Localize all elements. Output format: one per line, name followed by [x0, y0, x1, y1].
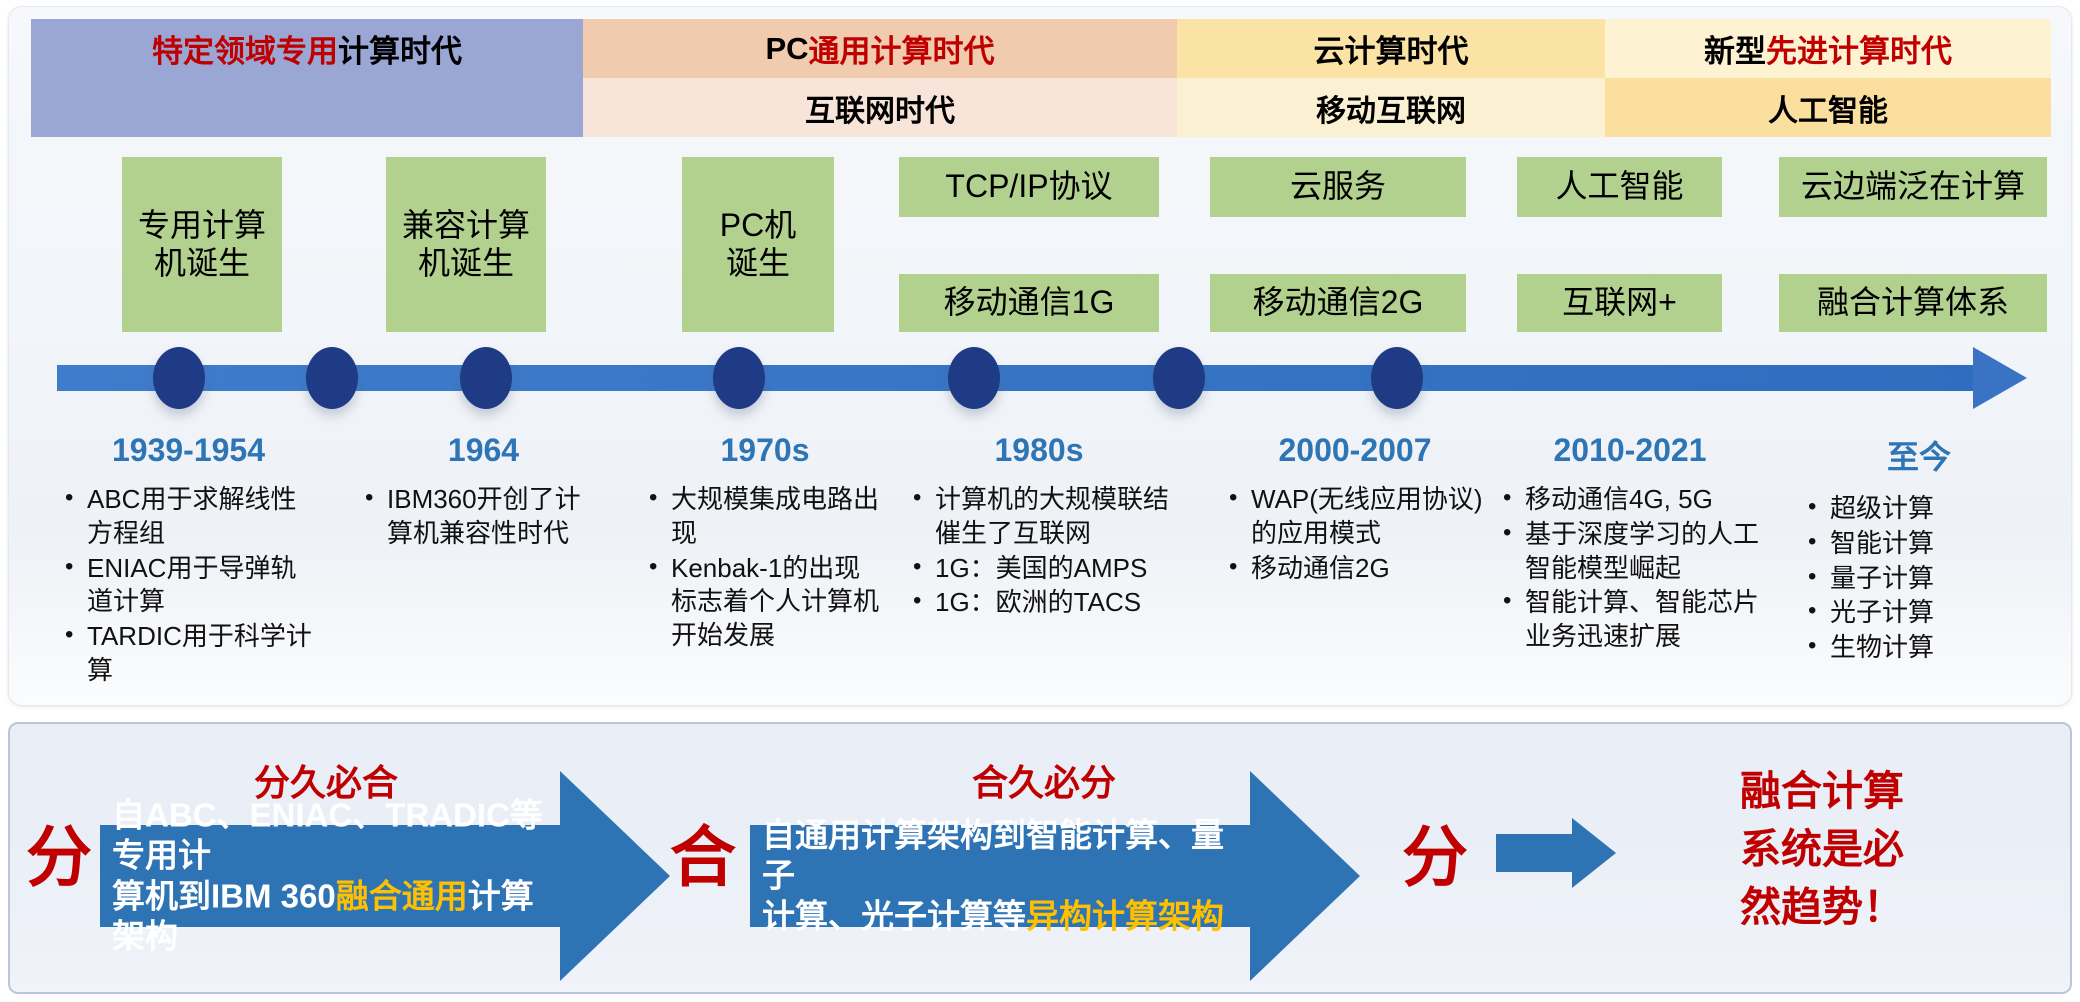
timeline-arrow-head-icon [1973, 347, 2027, 409]
era-band-2: 云计算时代移动互联网 [1177, 19, 1605, 137]
label-fen-right: 分 [1402, 824, 1468, 890]
era-column-4: 2000-2007WAP(无线应用协议)的应用模式移动通信2G [1225, 432, 1485, 586]
list-item: WAP(无线应用协议)的应用模式 [1225, 483, 1485, 551]
list-item: ENIAC用于导弹轨道计算 [61, 552, 316, 620]
small-arrow-head-icon [1572, 818, 1616, 888]
block-arrow-2-head-icon [1250, 771, 1360, 981]
label-he-middle: 合 [670, 824, 736, 890]
tech-tag-8: 互联网+ [1517, 274, 1722, 332]
era-column-0: 1939-1954ABC用于求解线性方程组ENIAC用于导弹轨道计算TARDIC… [61, 432, 316, 689]
label-fen-left: 分 [26, 824, 92, 890]
block-arrow-1-text: 自ABC、ENIAC、TRADIC等专用计 算机到IBM 360融合通用计算架构 [100, 788, 570, 965]
tech-tag-1: 兼容计算 机诞生 [386, 157, 546, 332]
era-band-2-subtitle: 移动互联网 [1177, 78, 1605, 137]
era-column-3-year: 1980s [909, 432, 1169, 469]
list-item: Kenbak-1的出现标志着个人计算机开始发展 [645, 552, 885, 653]
arrow-text-highlight: 异构计算架构 [1026, 897, 1224, 934]
era-column-1: 1964IBM360开创了计算机兼容性时代 [361, 432, 606, 552]
list-item: 基于深度学习的人工智能模型崛起 [1499, 518, 1761, 586]
tech-tag-7: 人工智能 [1517, 157, 1722, 217]
tech-tag-5: 云服务 [1210, 157, 1466, 217]
era-band-3: 新型先进计算时代人工智能 [1605, 19, 2051, 137]
tech-tag-10: 融合计算体系 [1779, 274, 2047, 332]
list-item: 移动通信4G, 5G [1499, 483, 1761, 517]
era-band-3-title: 新型先进计算时代 [1605, 19, 2051, 78]
tech-tag-0: 专用计算 机诞生 [122, 157, 282, 332]
era-column-0-list: ABC用于求解线性方程组ENIAC用于导弹轨道计算TARDIC用于科学计算 [61, 483, 316, 688]
conclusion-panel: 分 分久必合 自ABC、ENIAC、TRADIC等专用计 算机到IBM 360融… [8, 722, 2072, 994]
era-column-2: 1970s大规模集成电路出现Kenbak-1的出现标志着个人计算机开始发展 [645, 432, 885, 654]
era-column-2-list: 大规模集成电路出现Kenbak-1的出现标志着个人计算机开始发展 [645, 483, 885, 653]
block-arrow-1-head-icon [560, 771, 670, 981]
era-column-5: 2010-2021移动通信4G, 5G基于深度学习的人工智能模型崛起智能计算、智… [1499, 432, 1761, 655]
list-item: 1G：美国的AMPS [909, 552, 1169, 586]
list-item: 超级计算 [1804, 492, 2034, 526]
era-column-2-year: 1970s [645, 432, 885, 469]
list-item: ABC用于求解线性方程组 [61, 483, 316, 551]
list-item: 大规模集成电路出现 [645, 483, 885, 551]
timeline-dot-6 [1371, 347, 1423, 409]
era-column-3: 1980s计算机的大规模联结催生了互联网1G：美国的AMPS1G：欧洲的TACS [909, 432, 1169, 621]
era-header-bands: 特定领域专用计算时代PC通用计算时代互联网时代云计算时代移动互联网新型先进计算时… [31, 19, 2051, 137]
era-column-6: 至今超级计算智能计算量子计算光子计算生物计算 [1804, 432, 2034, 666]
slide-root: 特定领域专用计算时代PC通用计算时代互联网时代云计算时代移动互联网新型先进计算时… [0, 0, 2080, 1002]
era-band-2-title: 云计算时代 [1177, 19, 1605, 78]
era-band-1: PC通用计算时代互联网时代 [583, 19, 1177, 137]
era-band-3-subtitle: 人工智能 [1605, 78, 2051, 137]
era-column-5-year: 2010-2021 [1499, 432, 1761, 469]
list-item: 计算机的大规模联结催生了互联网 [909, 483, 1169, 551]
tech-tag-2: PC机 诞生 [682, 157, 834, 332]
timeline-dot-1 [306, 347, 358, 409]
era-column-4-list: WAP(无线应用协议)的应用模式移动通信2G [1225, 483, 1485, 585]
list-item: 量子计算 [1804, 562, 2034, 596]
timeline-dot-0 [153, 347, 205, 409]
era-column-6-year: 至今 [1804, 432, 2034, 478]
era-band-1-title: PC通用计算时代 [583, 19, 1177, 78]
era-band-0-title: 特定领域专用计算时代 [31, 19, 583, 78]
era-tag-boxes: 专用计算 机诞生兼容计算 机诞生PC机 诞生TCP/IP协议移动通信1G云服务移… [9, 157, 2080, 337]
timeline-dot-3 [713, 347, 765, 409]
era-column-3-list: 计算机的大规模联结催生了互联网1G：美国的AMPS1G：欧洲的TACS [909, 483, 1169, 620]
tech-tag-3: TCP/IP协议 [899, 157, 1159, 217]
list-item: 光子计算 [1804, 596, 2034, 630]
list-item: 智能计算、智能芯片业务迅速扩展 [1499, 586, 1761, 654]
era-column-1-year: 1964 [361, 432, 606, 469]
timeline-panel: 特定领域专用计算时代PC通用计算时代互联网时代云计算时代移动互联网新型先进计算时… [8, 6, 2072, 706]
era-column-0-year: 1939-1954 [61, 432, 316, 469]
tech-tag-9: 云边端泛在计算 [1779, 157, 2047, 217]
list-item: 移动通信2G [1225, 552, 1485, 586]
timeline-dot-2 [460, 347, 512, 409]
arrow-text-highlight: 融合通用 [336, 877, 468, 914]
list-item: IBM360开创了计算机兼容性时代 [361, 483, 606, 551]
era-column-5-list: 移动通信4G, 5G基于深度学习的人工智能模型崛起智能计算、智能芯片业务迅速扩展 [1499, 483, 1761, 654]
small-arrow-shaft [1496, 834, 1572, 872]
era-column-4-year: 2000-2007 [1225, 432, 1485, 469]
list-item: 1G：欧洲的TACS [909, 586, 1169, 620]
list-item: TARDIC用于科学计算 [61, 620, 316, 688]
block-arrow-2-text: 自通用计算架构到智能计算、量子 计算、光子计算等异构计算架构 [750, 808, 1260, 945]
era-band-0: 特定领域专用计算时代 [31, 19, 583, 137]
era-band-0-subtitle [31, 78, 583, 137]
list-item: 智能计算 [1804, 527, 2034, 561]
small-arrow-icon [1496, 816, 1656, 890]
era-column-6-list: 超级计算智能计算量子计算光子计算生物计算 [1804, 492, 2034, 665]
timeline-dot-4 [948, 347, 1000, 409]
block-arrow-2: 自通用计算架构到智能计算、量子 计算、光子计算等异构计算架构 [750, 771, 1370, 981]
timeline-dot-5 [1153, 347, 1205, 409]
era-band-1-subtitle: 互联网时代 [583, 78, 1177, 137]
list-item: 生物计算 [1804, 631, 2034, 665]
conclusion-text: 融合计算 系统是必 然趋势！ [1692, 762, 1952, 937]
era-column-1-list: IBM360开创了计算机兼容性时代 [361, 483, 606, 551]
block-arrow-1: 自ABC、ENIAC、TRADIC等专用计 算机到IBM 360融合通用计算架构 [100, 771, 670, 981]
tech-tag-4: 移动通信1G [899, 274, 1159, 332]
tech-tag-6: 移动通信2G [1210, 274, 1466, 332]
